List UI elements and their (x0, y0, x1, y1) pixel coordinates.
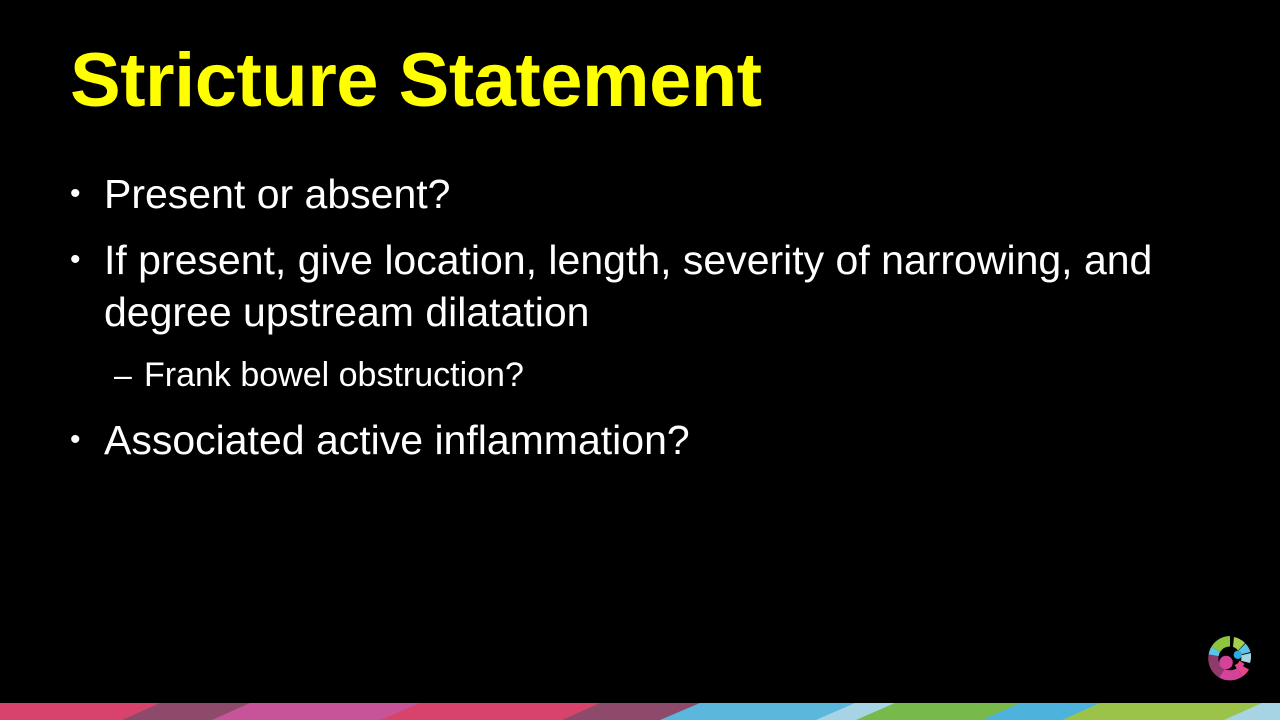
bullet-marker-icon: • (70, 168, 104, 220)
bullet-text: If present, give location, length, sever… (104, 234, 1214, 338)
bullet-item: • Present or absent? (70, 168, 1230, 220)
sub-bullet-item: – Frank bowel obstruction? (114, 352, 1230, 398)
dash-marker-icon: – (114, 352, 144, 398)
presentation-slide: Stricture Statement • Present or absent?… (0, 0, 1280, 720)
bullet-marker-icon: • (70, 414, 104, 466)
bullet-marker-icon: • (70, 234, 104, 286)
bullet-text: Associated active inflammation? (104, 414, 1214, 466)
bullet-item: • Associated active inflammation? (70, 414, 1230, 466)
slide-title: Stricture Statement (70, 42, 762, 120)
slide-body-content: • Present or absent? • If present, give … (70, 168, 1230, 480)
bullet-item: • If present, give location, length, sev… (70, 234, 1230, 338)
corner-ring-logo-icon (1204, 632, 1256, 684)
bottom-color-strip (0, 703, 1280, 720)
sub-bullet-text: Frank bowel obstruction? (144, 352, 1230, 398)
bullet-text: Present or absent? (104, 168, 1214, 220)
